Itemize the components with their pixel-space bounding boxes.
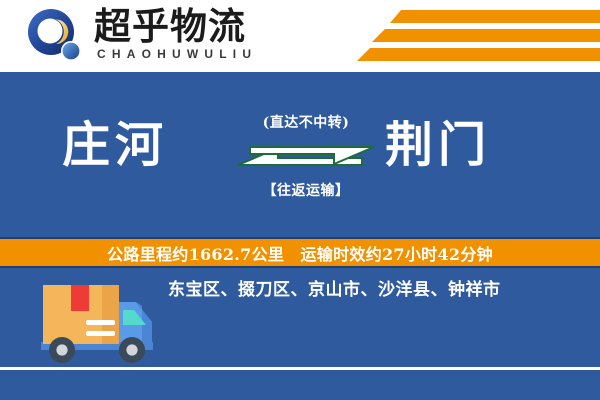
route-middle-block: (直达不中转) 【往返运输】 (236, 112, 376, 222)
brand-header: 超乎物流 CHAOHUWULIU (0, 0, 600, 72)
stripe-2 (372, 29, 600, 42)
delivery-truck-icon (24, 276, 164, 371)
orange-speed-stripes-icon (360, 0, 600, 72)
stripe-1 (390, 10, 600, 23)
distance-and-duration-text: 公路里程约1662.7公里 运输时效约27小时42分钟 (107, 241, 493, 265)
roundtrip-note: 【往返运输】 (236, 180, 376, 200)
circular-q-logo-icon (26, 8, 86, 66)
covered-districts-text: 东宝区、掇刀区、京山市、沙洋县、钟祥市 (168, 278, 588, 302)
coverage-panel: 东宝区、掇刀区、京山市、沙洋县、钟祥市 (0, 268, 600, 400)
road-divider-line (0, 367, 600, 370)
destination-city: 荆门 (385, 116, 491, 174)
origin-city: 庄河 (62, 116, 168, 174)
logistics-route-banner: 超乎物流 CHAOHUWULIU 庄河 (直达不中转) 【往返运输】 荆门 (0, 0, 600, 400)
brand-name-en: CHAOHUWULIU (97, 47, 257, 61)
route-panel: 庄河 (直达不中转) 【往返运输】 荆门 (0, 72, 600, 237)
route-info-bar: 公路里程约1662.7公里 运输时效约27小时42分钟 (0, 237, 600, 268)
brand-name-cn: 超乎物流 (94, 6, 246, 46)
stripe-3 (357, 48, 600, 61)
double-headed-arrow-icon (236, 138, 376, 174)
direct-shipping-note: (直达不中转) (236, 112, 376, 132)
